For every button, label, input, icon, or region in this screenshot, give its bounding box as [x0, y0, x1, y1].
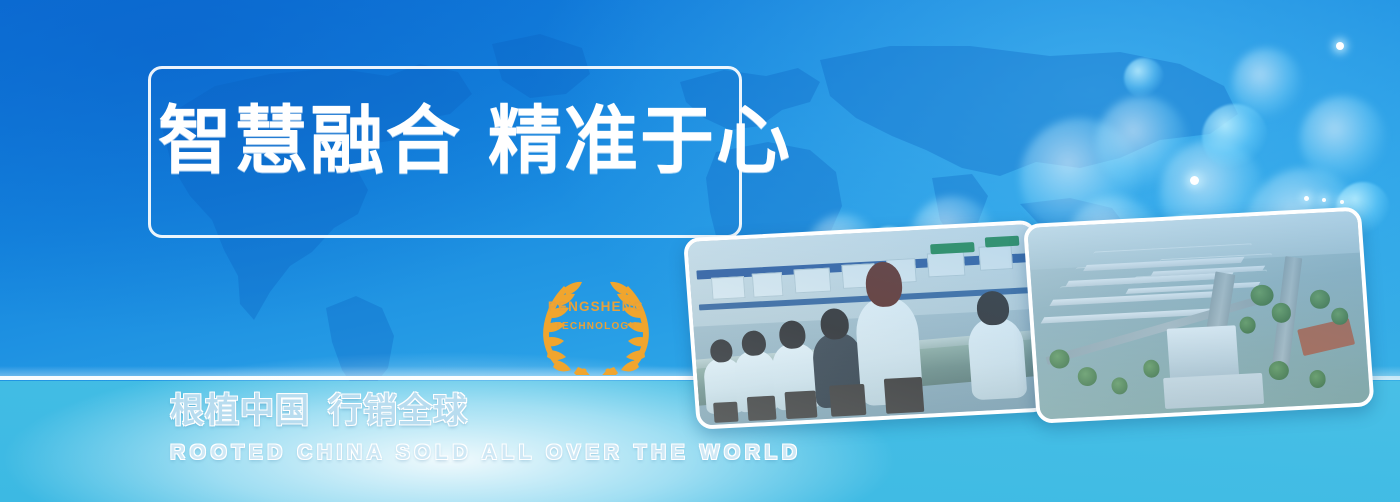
promotional-banner: 智慧融合精准于心	[0, 0, 1400, 502]
slogan-chinese-part1: 根植中国	[170, 391, 310, 431]
slogan-chinese: 根植中国行销全球	[170, 394, 790, 430]
photo-tint	[1027, 211, 1370, 420]
slogan-block: 根植中国行销全球 ROOTED CHINA SOLD ALL OVER THE …	[170, 394, 790, 465]
photo-factory-campus-aerial	[1023, 207, 1375, 424]
slogan-english: ROOTED CHINA SOLD ALL OVER THE WORLD	[170, 441, 790, 465]
slogan-chinese-part2: 行销全球	[328, 391, 468, 431]
